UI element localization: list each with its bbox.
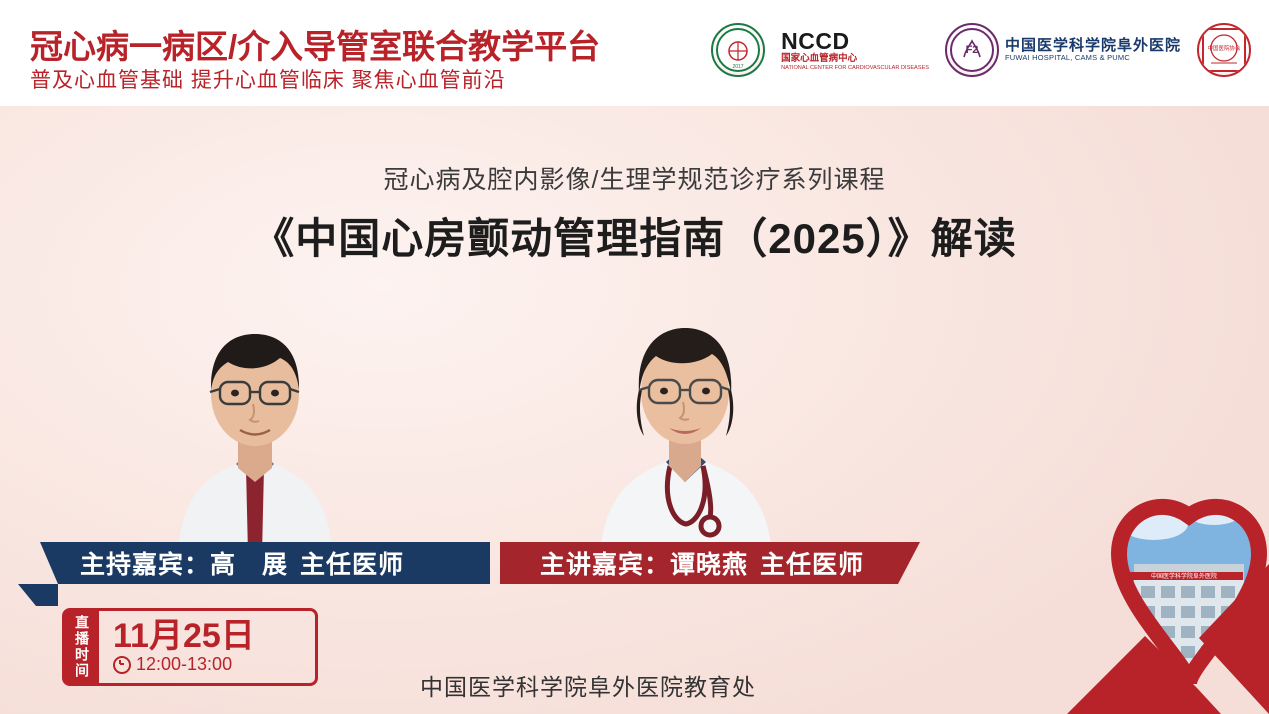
speaker-photo bbox=[570, 286, 800, 546]
speaker-role-label: 主讲嘉宾： bbox=[500, 545, 670, 581]
fuwai-name-en: FUWAI HOSPITAL, CAMS & PUMC bbox=[1005, 54, 1181, 63]
hospital-heart-graphic: 中国医学科学院阜外医院 bbox=[949, 454, 1269, 714]
fuwai-crest-icon: F2 bbox=[945, 23, 999, 77]
svg-text:中国医学科学院阜外医院: 中国医学科学院阜外医院 bbox=[1151, 572, 1217, 580]
nccd-abbrev: NCCD bbox=[781, 29, 929, 54]
host-photo bbox=[140, 286, 370, 546]
svg-text:中国医院协会: 中国医院协会 bbox=[1207, 44, 1241, 52]
nccd-logo: NCCD 国家心血管病中心 NATIONAL CENTER FOR CARDIO… bbox=[781, 29, 929, 70]
broadcast-time-row: 12:00-13:00 bbox=[113, 654, 255, 675]
svg-text:F2: F2 bbox=[966, 44, 979, 56]
livestream-poster: 冠心病一病区/介入导管室联合教学平台 普及心血管基础 提升心血管临床 聚焦心血管… bbox=[0, 0, 1269, 714]
fuwai-hospital-logo: F2 中国医学科学院阜外医院 FUWAI HOSPITAL, CAMS & PU… bbox=[945, 23, 1181, 77]
clock-icon bbox=[113, 656, 131, 674]
nccd-name-cn: 国家心血管病中心 bbox=[781, 54, 929, 64]
schedule-main: 11月25日 12:00-13:00 bbox=[99, 619, 255, 676]
fuwai-name-cn: 中国医学科学院阜外医院 bbox=[1005, 37, 1181, 54]
nccd-name-en: NATIONAL CENTER FOR CARDIOVASCULAR DISEA… bbox=[781, 65, 929, 71]
svg-text:2017: 2017 bbox=[733, 64, 744, 70]
page-title: 《中国心房颤动管理指南（2025）》解读 bbox=[0, 205, 1269, 266]
broadcast-date: 11月25日 bbox=[113, 619, 255, 655]
fuwai-hospital-logo-text: 中国医学科学院阜外医院 FUWAI HOSPITAL, CAMS & PUMC bbox=[1005, 37, 1181, 63]
series-label: 冠心病及腔内影像/生理学规范诊疗系列课程 bbox=[0, 160, 1269, 196]
speaker-name-bar: 主讲嘉宾： 谭晓燕 主任医师 bbox=[500, 542, 920, 584]
schedule-box: 直播时间 11月25日 12:00-13:00 bbox=[62, 608, 318, 686]
broadcast-time: 12:00-13:00 bbox=[136, 654, 232, 675]
logo-group: 2017 NCCD 国家心血管病中心 NATIONAL CENTER FOR C… bbox=[711, 12, 1251, 88]
fuwai-seal-logo: 2017 bbox=[711, 23, 765, 77]
fuwai-seal-icon: 2017 bbox=[711, 23, 765, 77]
host-name: 高 展 bbox=[210, 545, 288, 581]
speaker-name: 谭晓燕 bbox=[670, 545, 748, 581]
host-title: 主任医师 bbox=[288, 545, 404, 581]
live-time-label: 直播时间 bbox=[65, 611, 99, 683]
poster-header: 冠心病一病区/介入导管室联合教学平台 普及心血管基础 提升心血管临床 聚焦心血管… bbox=[0, 0, 1269, 106]
red-seal-icon: 中国医院协会 bbox=[1197, 23, 1251, 77]
platform-subtitle: 普及心血管基础 提升心血管临床 聚焦心血管前沿 bbox=[30, 64, 506, 94]
host-name-bar: 主持嘉宾： 高 展 主任医师 bbox=[40, 542, 490, 584]
organizer-label: 中国医学科学院阜外医院教育处 bbox=[420, 668, 756, 702]
speaker-title: 主任医师 bbox=[748, 545, 864, 581]
nccd-logo-text: NCCD 国家心血管病中心 NATIONAL CENTER FOR CARDIO… bbox=[781, 29, 929, 70]
host-role-label: 主持嘉宾： bbox=[40, 545, 210, 581]
red-seal-logo: 中国医院协会 bbox=[1197, 23, 1251, 77]
platform-title: 冠心病一病区/介入导管室联合教学平台 bbox=[30, 20, 600, 68]
host-bar-accent bbox=[18, 584, 58, 606]
